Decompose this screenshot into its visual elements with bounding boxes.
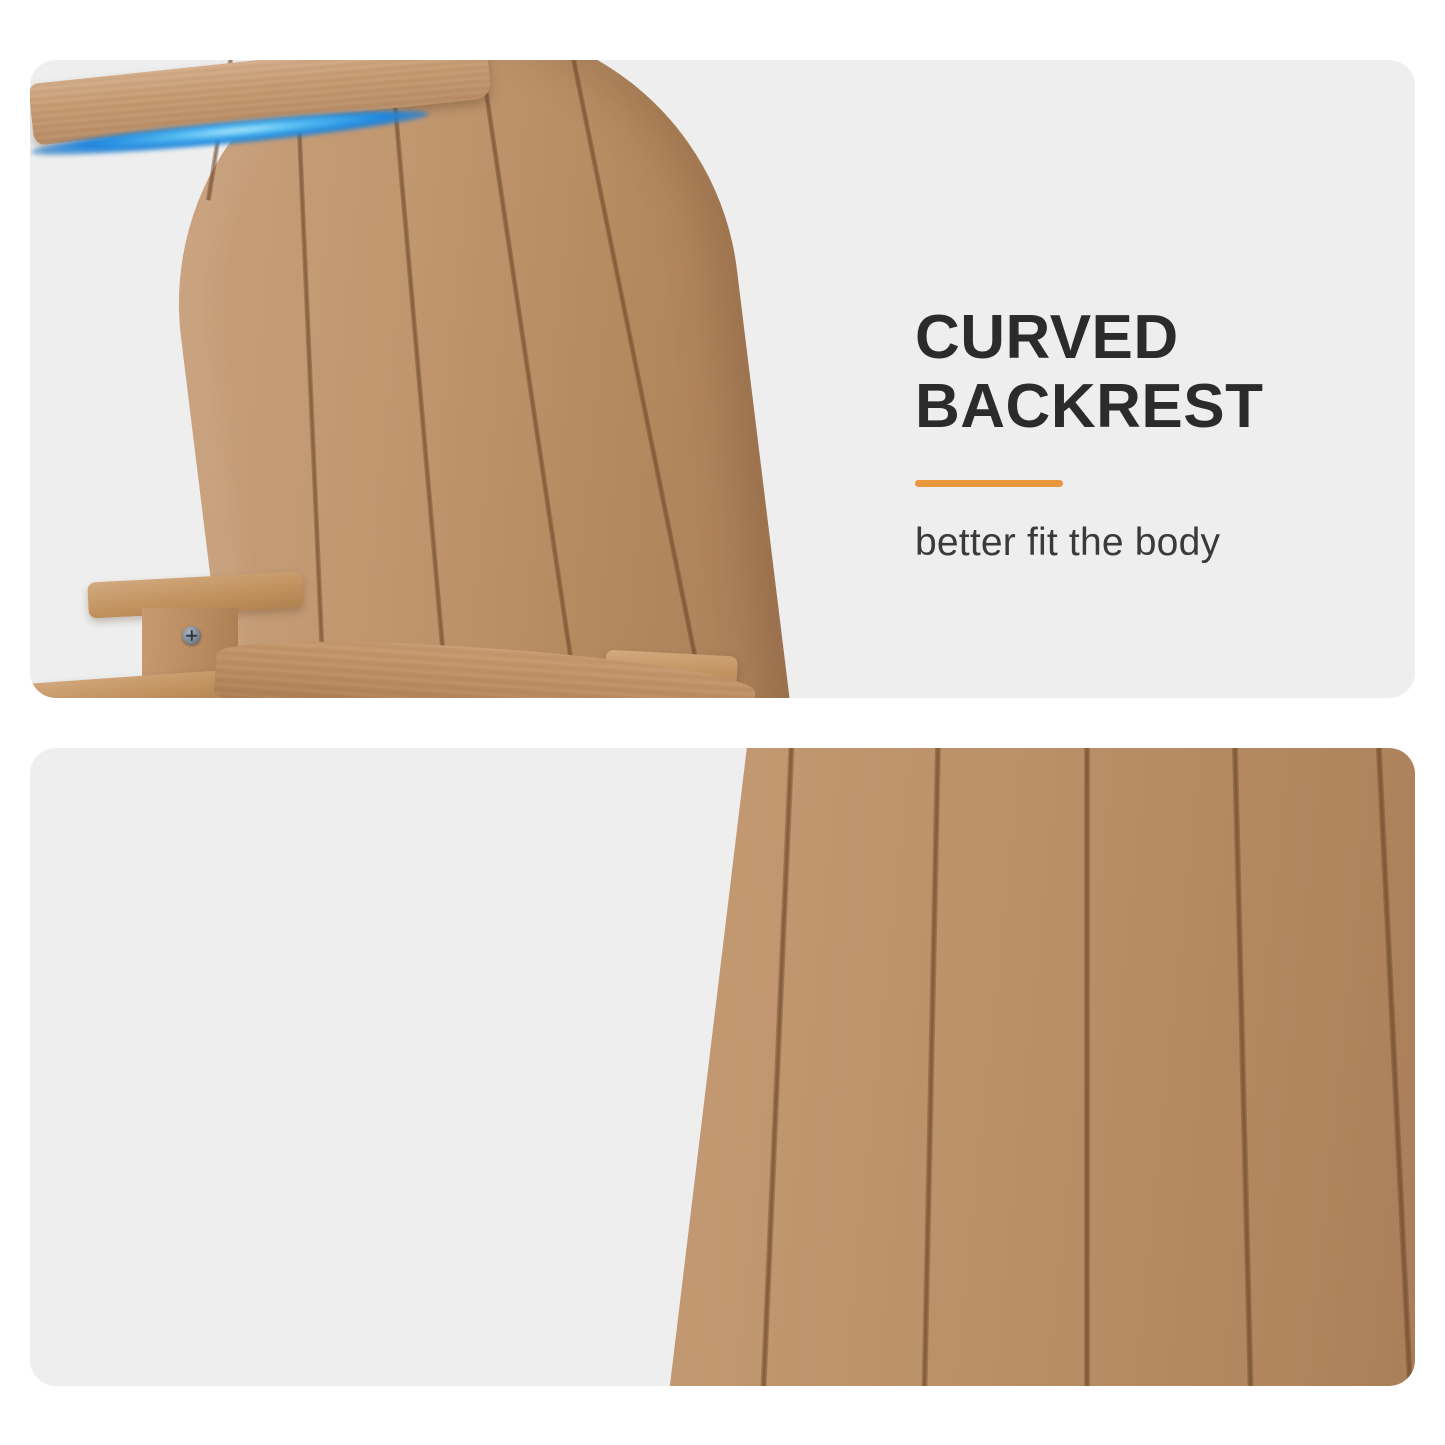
accent-divider: [915, 480, 1063, 487]
left-front-armrest: [30, 669, 241, 698]
chair-armrest-photo: [30, 748, 1415, 1386]
feature-copy-curved-backrest: CURVED BACKREST better fit the body: [915, 303, 1263, 565]
feature-subline: better fit the body: [915, 521, 1263, 565]
feature-panel-curved-backrest: CURVED BACKREST better fit the body: [30, 60, 1415, 698]
screw-icon: [182, 626, 201, 645]
backrest-slats: [666, 748, 1415, 1386]
feature-panel-wide-armrests: WIDE ARMRESTS for better arm relaxation: [30, 748, 1415, 1386]
feature-headline: CURVED BACKREST: [915, 303, 1263, 442]
